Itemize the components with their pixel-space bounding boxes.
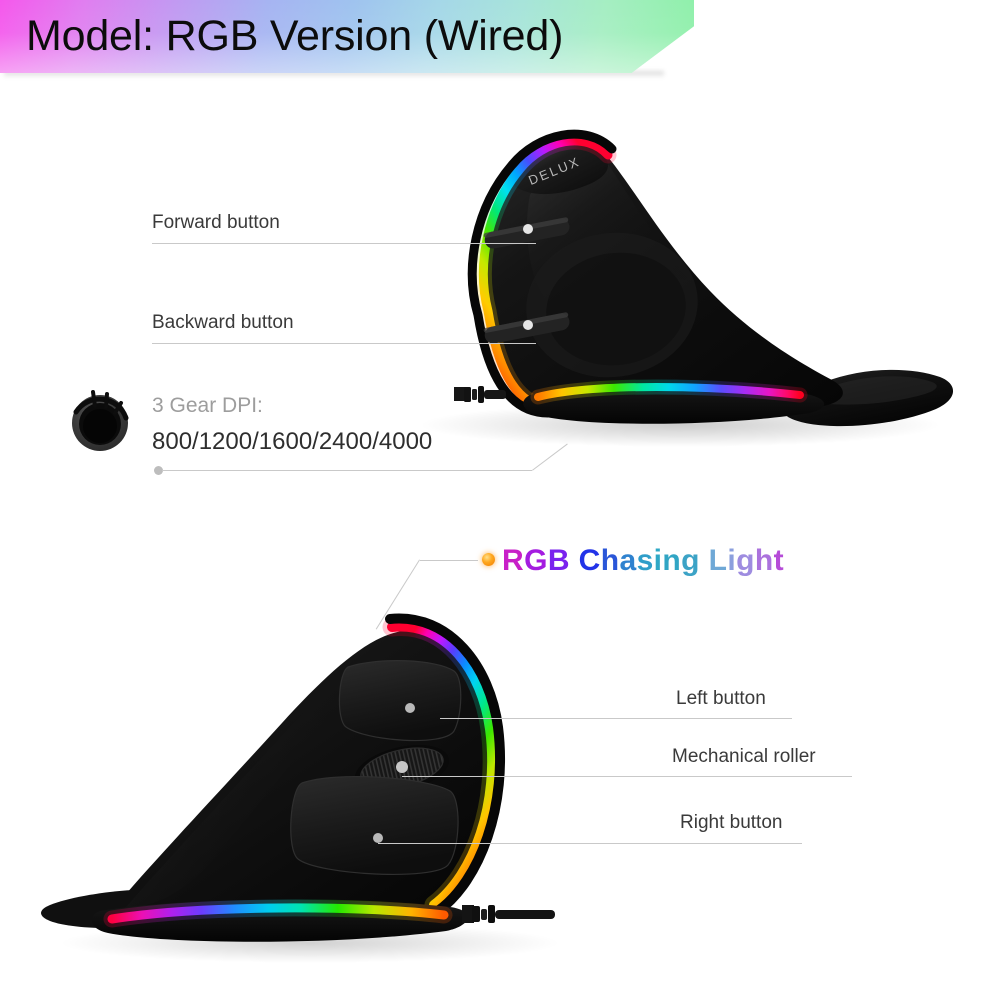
rgb-title-letter: g bbox=[681, 544, 700, 577]
mouse-front-view-illustration bbox=[30, 575, 570, 975]
rgb-chasing-light-title: RGB Chasing Light bbox=[502, 544, 784, 578]
callout-leader-right-button bbox=[378, 843, 802, 844]
rgb-title-letter: h bbox=[601, 544, 620, 577]
rgb-title-letter: n bbox=[662, 544, 681, 577]
rgb-chasing-light-leader bbox=[420, 560, 478, 561]
dpi-values: 800/1200/1600/2400/4000 bbox=[152, 428, 432, 456]
forward-button-marker bbox=[523, 224, 533, 234]
callout-leader-forward-button bbox=[152, 243, 536, 244]
rgb-title-letter: h bbox=[755, 544, 774, 577]
callout-label-mechanical-roller: Mechanical roller bbox=[672, 746, 816, 768]
right-button-marker bbox=[373, 833, 383, 843]
callout-leader-left-button bbox=[440, 718, 792, 719]
usb-cable bbox=[440, 386, 506, 403]
callout-label-left-button: Left button bbox=[676, 688, 766, 710]
rgb-title-letter: t bbox=[774, 544, 784, 577]
mouse-front-view-svg bbox=[30, 575, 570, 975]
rgb-title-letter: B bbox=[548, 544, 570, 577]
right-button-shape[interactable] bbox=[291, 777, 458, 875]
rgb-title-letter: a bbox=[619, 544, 636, 577]
mouse-side-view-svg: DELUX bbox=[380, 95, 960, 465]
callout-leader-backward-button bbox=[152, 343, 536, 344]
left-button-marker bbox=[405, 703, 415, 713]
rgb-title-letter: C bbox=[579, 544, 601, 577]
rgb-title-letter: R bbox=[502, 544, 524, 577]
rgb-title-letter: g bbox=[736, 544, 755, 577]
rgb-title-letter: i bbox=[727, 544, 736, 577]
banner-title: Model: RGB Version (Wired) bbox=[26, 8, 563, 64]
rgb-title-letter bbox=[570, 544, 579, 577]
callout-label-forward-button: Forward button bbox=[152, 212, 280, 234]
backward-button-marker bbox=[523, 320, 533, 330]
dpi-label: 3 Gear DPI: bbox=[152, 394, 263, 418]
dpi-leader-line bbox=[162, 470, 532, 471]
usb-cable bbox=[448, 905, 555, 923]
callout-label-right-button: Right button bbox=[680, 812, 782, 834]
rgb-chasing-light-marker bbox=[482, 553, 495, 566]
rgb-title-letter: L bbox=[709, 544, 728, 577]
callout-leader-mechanical-roller bbox=[402, 776, 852, 777]
infographic-page: Model: RGB Version (Wired) bbox=[0, 0, 1000, 1000]
mechanical-roller-marker bbox=[396, 761, 408, 773]
dpi-dial-icon bbox=[62, 376, 140, 456]
mouse-side-view-illustration: DELUX bbox=[380, 95, 960, 465]
callout-label-backward-button: Backward button bbox=[152, 312, 294, 334]
left-button-shape[interactable] bbox=[339, 661, 460, 741]
rgb-title-letter bbox=[700, 544, 709, 577]
rgb-title-letter: G bbox=[524, 544, 548, 577]
rgb-title-letter: s bbox=[637, 544, 654, 577]
